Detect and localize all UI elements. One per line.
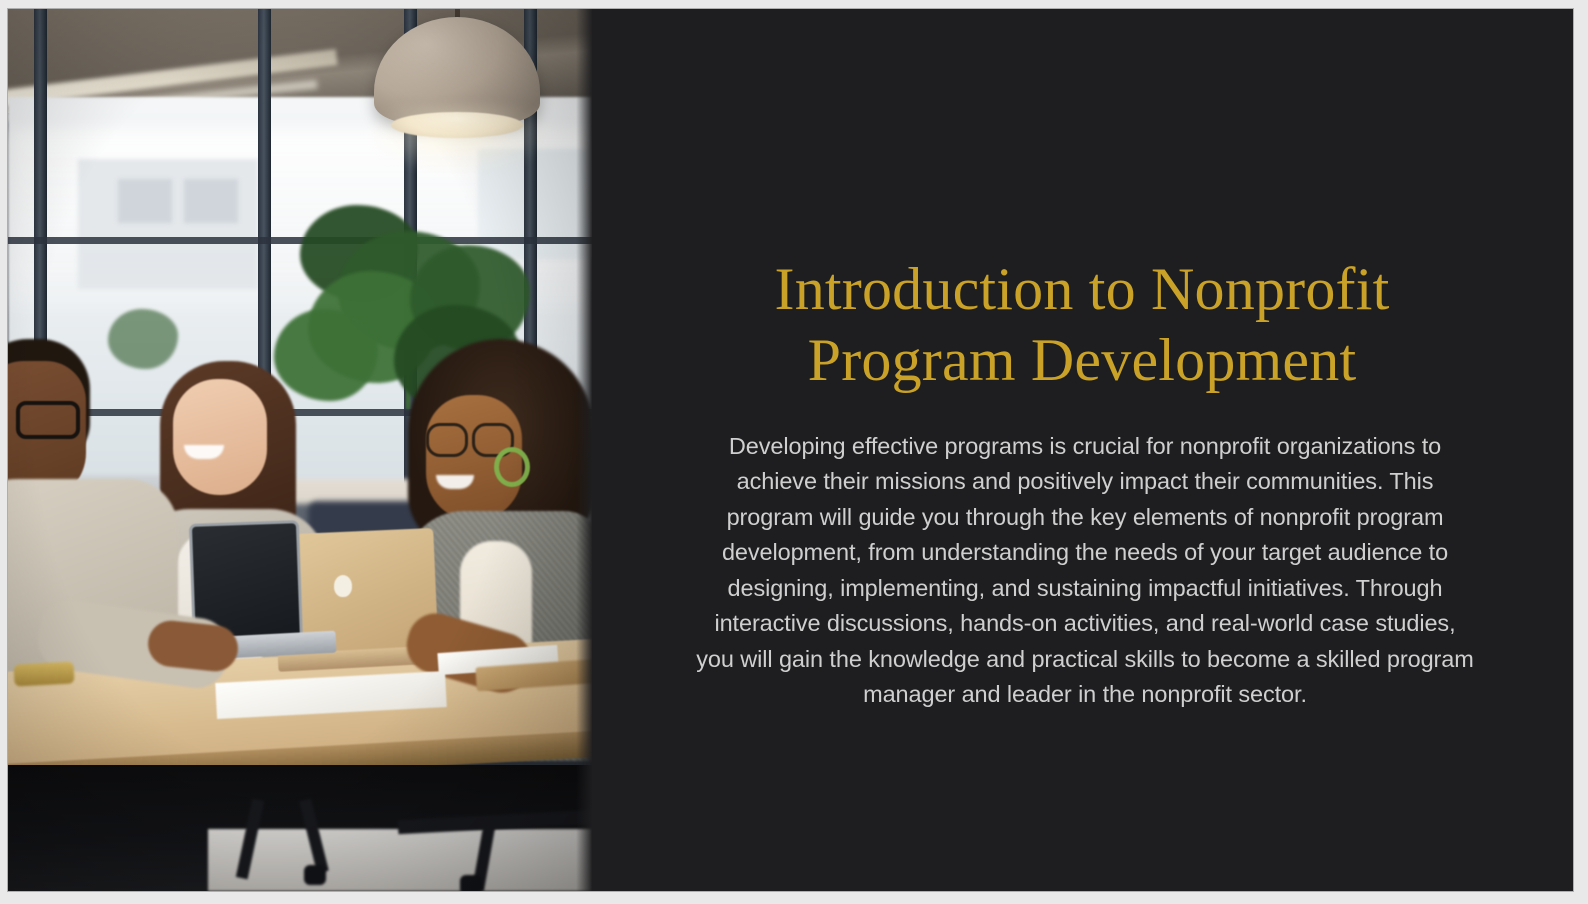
chair-caster-1 [304, 865, 326, 885]
person-left-glasses [16, 401, 80, 439]
person-curly-glasses [426, 423, 512, 453]
chair-caster-2 [460, 875, 482, 891]
slide-title: Introduction to Nonprofit Program Develo… [682, 254, 1482, 396]
person-middle-face [173, 379, 267, 495]
office-floor [208, 829, 592, 891]
desk-object [13, 661, 74, 686]
eyeglass-lens-left [426, 423, 468, 457]
slide-text-panel[interactable]: Introduction to Nonprofit Program Develo… [592, 9, 1573, 891]
slide-photo[interactable] [8, 9, 592, 891]
plant-leaf-cluster-7 [108, 309, 178, 369]
person-curly-earring [494, 447, 530, 487]
plant-leaf-cluster-6 [274, 309, 378, 401]
window-transom-1 [8, 237, 592, 244]
slide-body-text: Developing effective programs is crucial… [694, 429, 1476, 713]
pendant-lamp-glow [364, 105, 554, 175]
screenshot-frame: Introduction to Nonprofit Program Develo… [0, 0, 1588, 904]
exterior-window-a [118, 179, 172, 223]
laptop-logo-icon [334, 575, 352, 597]
presentation-slide[interactable]: Introduction to Nonprofit Program Develo… [8, 9, 1573, 891]
exterior-window-b [184, 179, 238, 223]
